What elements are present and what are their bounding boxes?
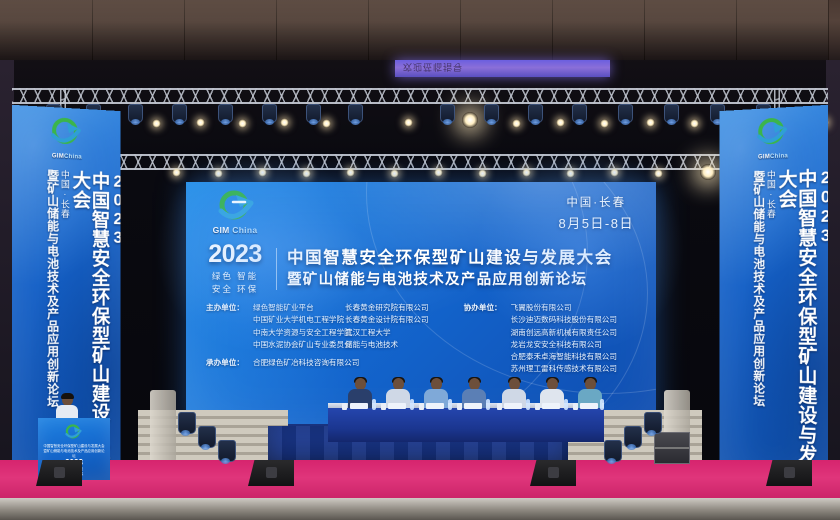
floor-moving-light <box>604 440 622 462</box>
organizer-area: 主办单位： 绿色智能矿业平台 长春黄金研究院有限公司 中国矿业大学机电工程学院 … <box>206 302 642 376</box>
title-block: 中国智慧安全环保型矿山建设与发展大会 暨矿山储能与电池技术及产品应用创新论坛 <box>287 248 613 289</box>
upper-truss <box>12 88 828 104</box>
title-divider <box>276 248 277 290</box>
coorganizer-item: 合肥泰禾卓海智能科技有限公司 <box>511 351 642 363</box>
coorganizer-item: 苏州理工雷科传感技术有限公司 <box>511 363 642 375</box>
screen-logo: GIM China <box>202 190 268 235</box>
stage-monitor-speaker <box>530 460 576 486</box>
floor-moving-light <box>178 412 196 434</box>
location-date-block: 中国·长春 8月5日-8日 <box>558 194 634 232</box>
host-item: 绿色智能矿业平台 <box>253 302 345 314</box>
host-item: 武汉工程大学 <box>345 327 454 339</box>
stage-monitor-speaker <box>248 460 294 486</box>
led-ticker-text: 欢迎莅临指导 <box>403 61 463 74</box>
ceiling-led-ticker: 欢迎莅临指导 <box>395 60 610 77</box>
right-banner-logo-text: GIMChina <box>747 153 800 161</box>
coorganizer-item: 湖南创远高新机械有限责任公司 <box>511 327 642 339</box>
stage-front-edge <box>0 498 840 520</box>
screen-logo-text: GIM China <box>202 225 268 235</box>
coorganizer-row: 龙岩龙安安全科技有限公司 <box>464 339 642 351</box>
right-banner-title: 中国智慧安全环保型矿山建设与发展大会 <box>776 168 816 490</box>
event-year: 2023 <box>204 242 266 267</box>
host-organizers: 主办单位： 绿色智能矿业平台 长春黄金研究院有限公司 中国矿业大学机电工程学院 … <box>206 302 454 376</box>
conference-hall-photo: 欢迎莅临指导 <box>0 0 840 520</box>
event-location: 中国·长春 <box>558 194 634 210</box>
floor-moving-light <box>624 426 642 448</box>
ceiling <box>0 0 840 60</box>
left-banner-logo: GIMChina <box>40 117 93 162</box>
coorganizer-row: 长沙迪迈数码科技股份有限公司 <box>464 314 642 326</box>
left-banner-year: 2023 <box>109 172 120 486</box>
coorganizer-item: 龙岩龙安安全科技有限公司 <box>511 339 642 351</box>
stage-monitor-speaker <box>766 460 812 486</box>
floor-moving-light <box>644 412 662 434</box>
right-banner-location: 中国·长春 <box>766 170 775 488</box>
right-banner-logo: GIMChina <box>747 117 800 162</box>
host-row: 中南大学资源与安全工程学院 武汉工程大学 <box>206 327 454 339</box>
floor-moving-light <box>218 440 236 462</box>
event-dates: 8月5日-8日 <box>558 213 634 232</box>
speaker-at-podium <box>56 394 78 420</box>
host-item: 长春黄金设计院有限公司 <box>345 314 454 326</box>
undertaker-row: 承办单位： 合肥绿色矿冶科技咨询有限公司 <box>206 357 454 369</box>
slogan-line-2: 安全 环保 <box>204 283 266 296</box>
undertaker-name: 合肥绿色矿冶科技咨询有限公司 <box>253 357 454 369</box>
host-row: 中国矿业大学机电工程学院 长春黄金设计院有限公司 <box>206 314 454 326</box>
right-banner-year: 2023 <box>816 168 828 492</box>
gim-china-swoosh-icon <box>751 117 794 149</box>
coorganizer-row: 湖南创远高新机械有限责任公司 <box>464 327 642 339</box>
host-item: 中国矿业大学机电工程学院 <box>253 314 345 326</box>
host-item: 中国水泥协会矿山专业委员会 <box>253 339 345 351</box>
right-banner-subtitle: 暨矿山储能与电池技术及产品应用创新论坛 <box>752 170 764 487</box>
coorganizer-label: 协办单位： <box>464 302 511 314</box>
balustrade-left <box>150 390 176 462</box>
coorganizer-row: 协办单位： 飞翼股份有限公司 <box>464 302 642 314</box>
gim-china-swoosh-icon <box>45 117 88 149</box>
host-item: 储能与电池技术 <box>345 339 454 351</box>
left-banner-logo-text: GIMChina <box>40 153 93 161</box>
coorganizer-row: 苏州理工雷科传感技术有限公司 <box>464 363 642 375</box>
coorganizer-item: 长沙迪迈数码科技股份有限公司 <box>511 314 642 326</box>
head-table <box>328 408 604 442</box>
right-banner-tower: GIMChina 2023 中国智慧安全环保型矿山建设与发展大会 中国·长春 暨… <box>720 105 829 491</box>
gim-china-swoosh-icon <box>62 424 86 441</box>
gim-china-swoosh-icon <box>215 190 259 224</box>
stage-monitor-speaker <box>36 460 82 486</box>
slogan-line-1: 绿色 智能 <box>204 270 266 283</box>
title-row: 2023 绿色 智能 安全 环保 中国智慧安全环保型矿山建设与发展大会 暨矿山储… <box>204 242 613 296</box>
host-row: 主办单位： 绿色智能矿业平台 长春黄金研究院有限公司 <box>206 302 454 314</box>
host-item: 长春黄金研究院有限公司 <box>345 302 454 314</box>
host-item: 中南大学资源与安全工程学院 <box>253 327 345 339</box>
event-title-main: 中国智慧安全环保型矿山建设与发展大会 <box>287 248 613 269</box>
event-title-sub: 暨矿山储能与电池技术及产品应用创新论坛 <box>287 271 613 290</box>
equipment-case <box>654 432 690 464</box>
coorganizer-item: 飞翼股份有限公司 <box>511 302 642 314</box>
podium-logo <box>61 424 87 446</box>
host-label: 主办单位： <box>206 302 253 314</box>
undertaker-label: 承办单位： <box>206 357 253 369</box>
host-row: 中国水泥协会矿山专业委员会 储能与电池技术 <box>206 339 454 351</box>
floor-moving-light <box>198 426 216 448</box>
year-block: 2023 绿色 智能 安全 环保 <box>204 242 266 296</box>
coorganizers: 协办单位： 飞翼股份有限公司 长沙迪迈数码科技股份有限公司 湖南创远高新机械有限… <box>464 302 642 376</box>
coorganizer-row: 合肥泰禾卓海智能科技有限公司 <box>464 351 642 363</box>
